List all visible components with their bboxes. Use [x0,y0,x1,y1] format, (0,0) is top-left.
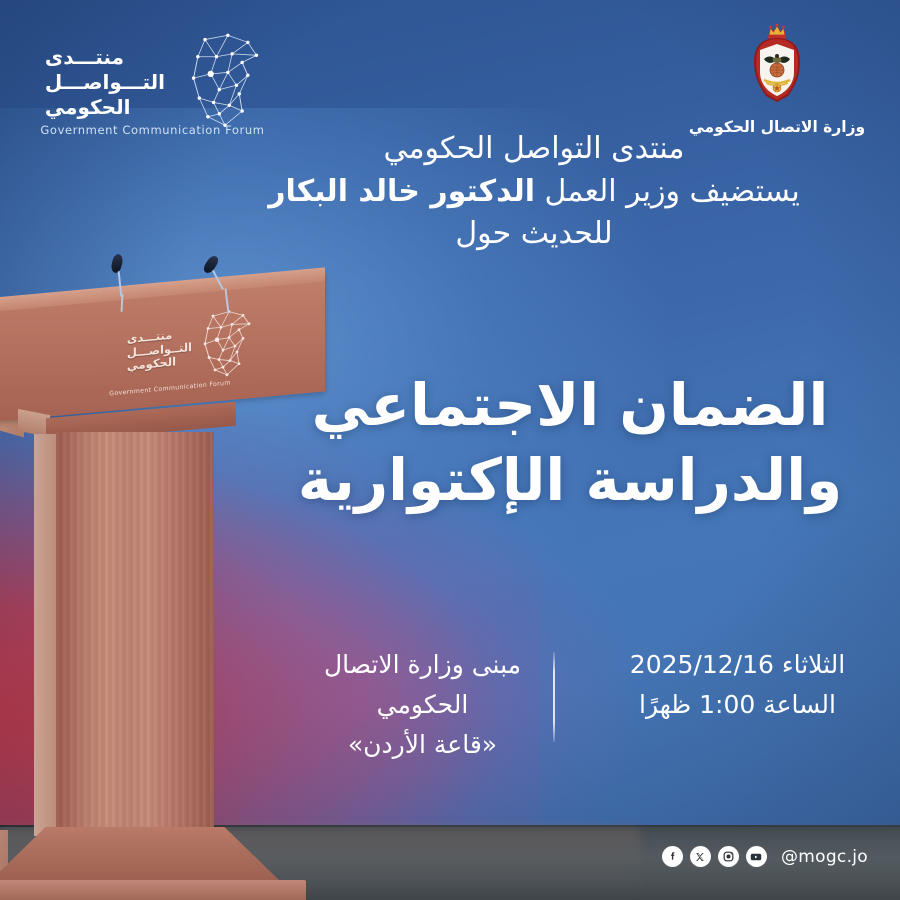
microphone-left [112,254,142,314]
event-datetime: الثلاثاء 2025/12/16 الساعة 1:00 ظهرًا [615,645,860,725]
podium-jordan-network-map-icon [199,306,255,381]
forum-logo: منتـــدى التـــواصـــل الحكومي Governmen… [30,28,275,133]
event-venue-building: مبنى وزارة الاتصال الحكومي [300,645,545,725]
header-speaker-name: الدكتور خالد البكار [268,174,535,209]
instagram-icon[interactable] [718,846,739,867]
microphone-right [206,255,246,317]
forum-logo-line2: التـــواصـــل [45,72,165,93]
event-date: الثلاثاء 2025/12/16 [615,645,860,685]
forum-logo-line1: منتـــدى [45,47,124,68]
microphone-left-stem-lower [121,294,124,312]
microphone-right-stem-lower [224,288,229,314]
podium-column-grain [56,432,214,852]
facebook-icon[interactable] [662,846,683,867]
jordan-network-map-icon [175,31,275,131]
x-twitter-icon[interactable] [690,846,711,867]
social-bar: @mogc.jo [662,846,868,867]
youtube-icon[interactable] [746,846,767,867]
poster-title-line-1: الضمان الاجتماعي [270,368,870,443]
forum-logo-line3: الحكومي [45,97,131,118]
header-text: منتدى التواصل الحكومي يستضيف وزير العمل … [214,128,854,256]
header-line-2: يستضيف وزير العمل الدكتور خالد البكار [214,171,854,214]
microphone-right-stem-upper [212,270,224,290]
podium-logo-line3: الحكومي [127,356,176,373]
social-handle: @mogc.jo [781,847,868,867]
podium-logo-text: منتـــدى التــواصـــل الحكومي [127,327,192,374]
podium-base-flare [0,827,284,885]
ministry-block: وزارة الاتصال الحكومي [682,22,872,136]
podium-column-side [34,434,58,836]
header-line-2-prefix: يستضيف وزير العمل [535,174,800,209]
event-poster: منتـــدى التــواصـــل الحكومي Government… [0,0,900,900]
podium-base-middle [0,880,306,900]
event-time: الساعة 1:00 ظهرًا [615,685,860,725]
header-line-1: منتدى التواصل الحكومي [214,128,854,171]
details-divider [553,652,555,742]
forum-logo-text: منتـــدى التـــواصـــل الحكومي [45,43,165,118]
jordan-coat-of-arms-icon [742,22,812,108]
header-line-3: للحديث حول [214,213,854,256]
event-venue-hall: «قاعة الأردن» [300,725,545,765]
event-details: الثلاثاء 2025/12/16 الساعة 1:00 ظهرًا مب… [300,645,860,753]
poster-title-line-2: والدراسة الإكتوارية [270,443,870,518]
event-venue: مبنى وزارة الاتصال الحكومي «قاعة الأردن» [300,645,545,765]
poster-title: الضمان الاجتماعي والدراسة الإكتوارية [270,368,870,519]
